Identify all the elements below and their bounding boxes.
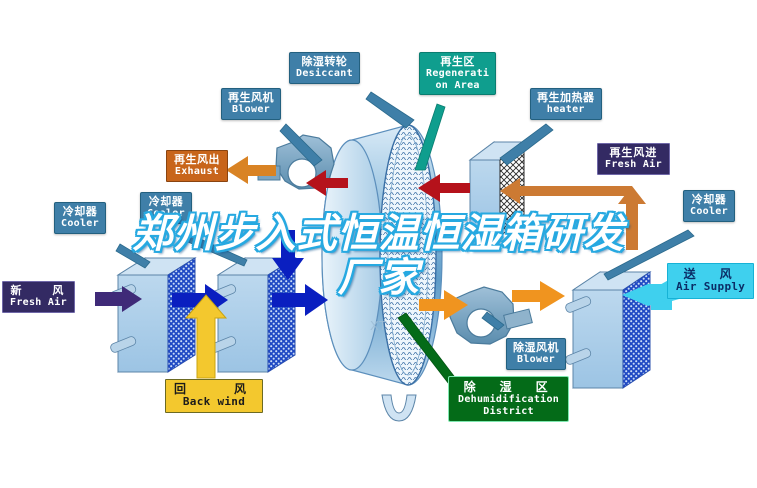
label-back-wind: 回 风 Back wind bbox=[165, 379, 263, 413]
label-cooler-middle-en: Cooler bbox=[147, 208, 185, 219]
leader-cooler-left bbox=[116, 244, 150, 268]
label-regen-blower: 再生风机 Blower bbox=[221, 88, 281, 120]
label-dehum-blower-en: Blower bbox=[513, 354, 559, 365]
label-regen-fresh-air-en: Fresh Air bbox=[605, 159, 662, 170]
label-cooler-left: 冷却器 Cooler bbox=[54, 202, 106, 234]
label-cooler-right: 冷却器 Cooler bbox=[683, 190, 735, 222]
label-regen-fresh-air: 再生风进 Fresh Air bbox=[597, 143, 670, 175]
label-dehum-district-cn: 除 湿 区 bbox=[458, 381, 559, 394]
label-dehum-blower-cn: 除湿风机 bbox=[513, 342, 559, 354]
leader-desiccant bbox=[366, 92, 414, 128]
cooler-unit-left bbox=[109, 258, 195, 372]
svg-text:XT: XT bbox=[370, 318, 387, 333]
label-fresh-air-en: Fresh Air bbox=[10, 297, 67, 308]
label-regeneration-area-cn: 再生区 bbox=[426, 56, 489, 68]
label-fresh-air-cn: 新 风 bbox=[10, 285, 67, 297]
label-fresh-air: 新 风 Fresh Air bbox=[2, 281, 75, 313]
label-regeneration-area: 再生区 Regenerati on Area bbox=[419, 52, 496, 95]
label-cooler-middle-cn: 冷却器 bbox=[147, 196, 185, 208]
label-back-wind-cn: 回 风 bbox=[174, 383, 254, 396]
label-cooler-left-en: Cooler bbox=[61, 218, 99, 229]
arrow-regen-air-horizontal bbox=[500, 178, 632, 204]
label-regen-heater-en: heater bbox=[537, 104, 595, 115]
label-cooler-left-cn: 冷却器 bbox=[61, 206, 99, 218]
label-regen-heater: 再生加热器 heater bbox=[530, 88, 602, 120]
label-back-wind-en: Back wind bbox=[174, 396, 254, 408]
label-dehum-blower: 除湿风机 Blower bbox=[506, 338, 566, 370]
label-regen-fresh-air-cn: 再生风进 bbox=[605, 147, 662, 159]
label-desiccant-en: Desiccant bbox=[296, 68, 353, 79]
label-dehumidification-district: 除 湿 区 Dehumidification District bbox=[448, 376, 569, 422]
label-exhaust-en: Exhaust bbox=[174, 166, 220, 177]
label-air-supply-cn: 送 风 bbox=[676, 268, 745, 281]
schematic-graphics: XT bbox=[0, 0, 757, 488]
label-regen-blower-cn: 再生风机 bbox=[228, 92, 274, 104]
label-exhaust-cn: 再生风出 bbox=[174, 154, 220, 166]
label-regeneration-area-en2: on Area bbox=[426, 80, 489, 91]
label-cooler-right-cn: 冷却器 bbox=[690, 194, 728, 206]
label-air-supply-en: Air Supply bbox=[676, 281, 745, 293]
label-dehum-district-en1: Dehumidification bbox=[458, 394, 559, 405]
label-regen-blower-en: Blower bbox=[228, 104, 274, 115]
diagram-canvas: XT bbox=[0, 0, 757, 488]
label-cooler-right-en: Cooler bbox=[690, 206, 728, 217]
label-exhaust: 再生风出 Exhaust bbox=[166, 150, 228, 182]
label-desiccant-cn: 除湿转轮 bbox=[296, 56, 353, 68]
label-cooler-middle: 冷却器 Cooler bbox=[140, 192, 192, 224]
label-desiccant: 除湿转轮 Desiccant bbox=[289, 52, 360, 84]
label-regeneration-area-en1: Regenerati bbox=[426, 68, 489, 79]
label-regen-heater-cn: 再生加热器 bbox=[537, 92, 595, 104]
label-air-supply: 送 风 Air Supply bbox=[667, 263, 754, 299]
label-dehum-district-en2: District bbox=[458, 406, 559, 417]
arrow-dehum-2 bbox=[512, 281, 565, 311]
